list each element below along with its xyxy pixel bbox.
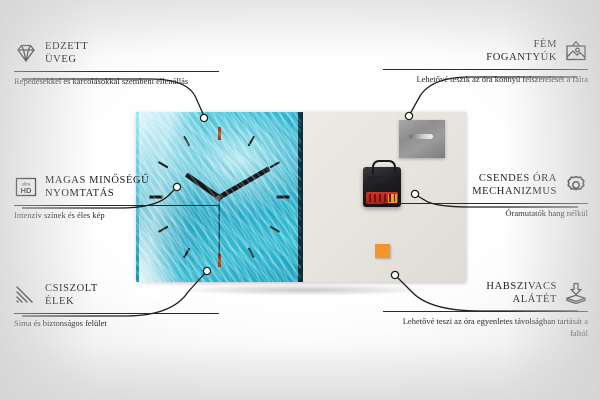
callout-title: HABSZIVACS ALÁTÉT [486,280,557,306]
callout-header: FÉM FOGANTYÚK [383,38,588,64]
callout-title-line2: ALÁTÉT [513,294,557,305]
clock-tick [247,248,254,259]
hanger-slot [409,134,433,139]
callout-title: EDZETT ÜVEG [45,40,88,66]
callout-title-line1: CSISZOLT [45,283,98,294]
callout-divider [14,71,219,72]
callout-title: FÉM FOGANTYÚK [486,38,557,64]
callout-title-line1: CSENDES ÓRA [479,173,557,184]
callout-title-line2: NYOMTATÁS [45,188,114,199]
callout-title-line1: FÉM [534,39,557,50]
clock-tick [157,161,168,168]
clock-tick [269,226,280,233]
callout-title-line2: ÉLEK [45,296,74,307]
clock-tick [183,136,190,147]
callout-high-quality-print: ultra HD MAGAS MINŐSÉGŰ NYOMTATÁS Intenz… [14,174,219,222]
callout-description: Repedésekkel és karcolásokkal szembeni e… [14,76,219,87]
callout-header: CSISZOLT ÉLEK [14,282,219,308]
callout-polished-edges: CSISZOLT ÉLEK Sima és biztonságos felüle… [14,282,219,330]
callout-description: Lehetővé teszik az óra könnyű felszerelé… [383,74,588,85]
callout-divider [14,205,219,206]
clock-tick [247,136,254,147]
callout-divider [383,69,588,70]
polished-edge-icon [14,284,38,306]
callout-title-line1: HABSZIVACS [486,281,557,292]
infographic-stage: EDZETT ÜVEG Repedésekkel és karcolásokka… [0,0,600,400]
callout-divider [383,311,588,312]
callout-description: Intenzív színek és éles kép [14,210,219,221]
callout-title-line1: MAGAS MINŐSÉGŰ [45,175,149,186]
metal-hanger-plate [399,120,445,158]
callout-title: MAGAS MINŐSÉGŰ NYOMTATÁS [45,174,149,200]
callout-header: HABSZIVACS ALÁTÉT [383,280,588,306]
clock-tick [183,248,190,259]
callout-description: Óramutatók hang nélkül [383,208,588,219]
foam-pad-icon [564,282,588,304]
callout-foam-pad: HABSZIVACS ALÁTÉT Lehetővé teszi az óra … [383,280,588,339]
clock-tick [157,226,168,233]
callout-header: CSENDES ÓRA MECHANIZMUS [383,172,588,198]
diamond-icon [14,42,38,64]
callout-title-line2: MECHANIZMUS [472,186,557,197]
callout-header: ultra HD MAGAS MINŐSÉGŰ NYOMTATÁS [14,174,219,200]
callout-title: CSENDES ÓRA MECHANIZMUS [472,172,557,198]
clock-tick [269,161,280,168]
callout-silent-mechanism: CSENDES ÓRA MECHANIZMUS Óramutatók hang … [383,172,588,220]
svg-text:HD: HD [21,186,32,195]
callout-title-line2: FOGANTYÚK [486,52,557,63]
picture-hanger-icon [564,40,588,62]
callout-divider [14,313,219,314]
gear-icon [564,174,588,196]
callout-divider [383,203,588,204]
clock-tick [218,254,221,267]
callout-title-line2: ÜVEG [45,54,77,65]
mechanism-slot [367,176,383,183]
back-panel-edge [301,112,303,282]
clock-tick [218,127,221,140]
callout-title-line1: EDZETT [45,41,88,52]
callout-description: Lehetővé teszi az óra egyenletes távolsá… [383,316,588,339]
callout-header: EDZETT ÜVEG [14,40,219,66]
callout-metal-handles: FÉM FOGANTYÚK Lehetővé teszik az óra kön… [383,38,588,86]
ultra-hd-icon: ultra HD [14,176,38,198]
callout-title: CSISZOLT ÉLEK [45,282,98,308]
callout-tempered-glass: EDZETT ÜVEG Repedésekkel és karcolásokka… [14,40,219,88]
foam-pad [375,244,390,258]
minute-hand [217,166,269,199]
clock-tick [276,196,289,199]
callout-description: Sima és biztonságos felület [14,318,219,329]
